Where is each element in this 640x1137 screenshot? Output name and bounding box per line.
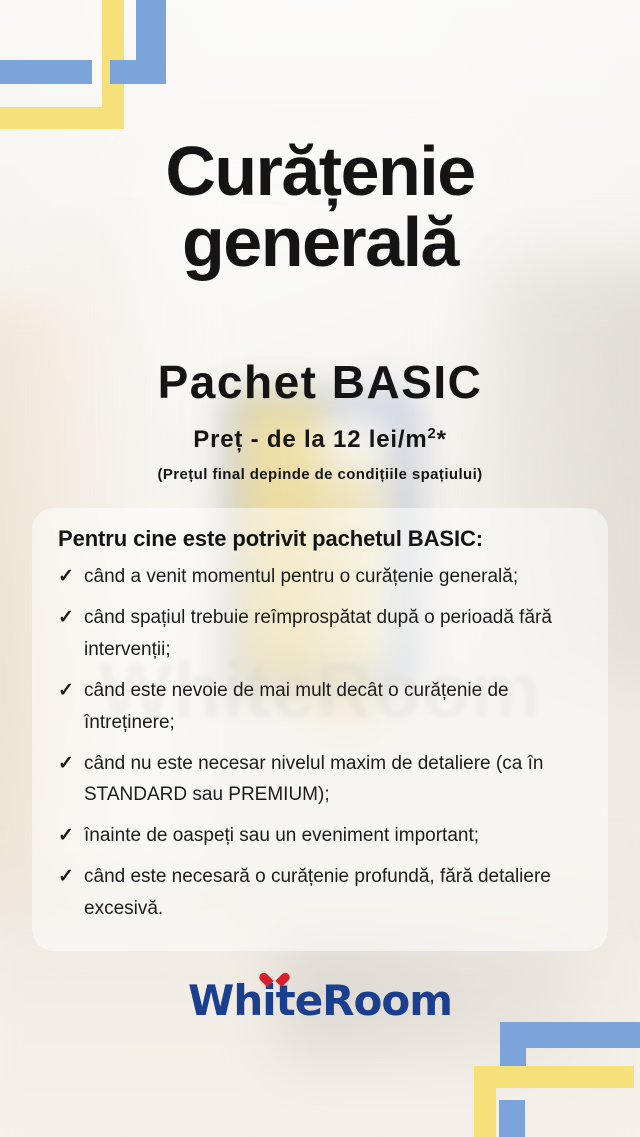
- package-name: Pachet BASIC: [0, 355, 640, 409]
- price-unit-exponent: 2: [428, 426, 437, 442]
- list-item: ✓ înainte de oaspeți sau un eveniment im…: [58, 820, 582, 852]
- check-icon: ✓: [58, 748, 74, 780]
- price-text: Preț - de la 12 lei/m: [193, 426, 427, 453]
- poster-canvas: WhiteRoom Curățenie generală Pachet BASI…: [0, 0, 640, 1137]
- corner-decoration-top-left-blue-bar: [0, 60, 92, 84]
- headline-line-2: generală: [0, 207, 640, 278]
- brand-logo-label: WhiteRoom: [188, 976, 452, 1025]
- list-item-label: când este nevoie de mai mult decât o cur…: [84, 680, 509, 733]
- page-title: Curățenie generală: [0, 136, 640, 279]
- check-icon: ✓: [58, 675, 74, 707]
- check-icon: ✓: [58, 861, 74, 893]
- list-item-label: înainte de oaspeți sau un eveniment impo…: [84, 825, 479, 846]
- heart-icon: [266, 970, 283, 985]
- list-item: ✓ când spațiul trebuie reîmprospătat dup…: [58, 602, 582, 666]
- corner-decoration-bottom-right-blue-tab: [499, 1100, 525, 1137]
- list-item-label: când nu este necesar nivelul maxim de de…: [84, 753, 543, 806]
- headline: Curățenie generală: [0, 136, 640, 279]
- list-item: ✓ când este necesară o curățenie profund…: [58, 861, 582, 925]
- price-line: Preț - de la 12 lei/m2*: [0, 426, 640, 454]
- corner-decoration-top-left-blue-hook-foot: [110, 60, 140, 84]
- brand-logo-text: WhiteRoom: [188, 976, 452, 1025]
- headline-line-1: Curățenie: [165, 132, 474, 210]
- benefits-card-title: Pentru cine este potrivit pachetul BASIC…: [58, 526, 582, 552]
- check-icon: ✓: [58, 602, 74, 634]
- list-item-label: când spațiul trebuie reîmprospătat după …: [84, 607, 552, 660]
- benefits-card: Pentru cine este potrivit pachetul BASIC…: [32, 508, 608, 951]
- check-icon: ✓: [58, 561, 74, 593]
- brand-logo: WhiteRoom: [0, 976, 640, 1032]
- price-asterisk: *: [437, 426, 447, 453]
- list-item-label: când este necesară o curățenie profundă,…: [84, 866, 551, 919]
- list-item: ✓ când este nevoie de mai mult decât o c…: [58, 675, 582, 739]
- list-item: ✓ când a venit momentul pentru o curățen…: [58, 561, 582, 593]
- check-icon: ✓: [58, 820, 74, 852]
- corner-decoration-top-left-blue-hook: [136, 0, 166, 84]
- price-disclaimer: (Prețul final depinde de condițiile spaț…: [0, 466, 640, 483]
- list-item: ✓ când nu este necesar nivelul maxim de …: [58, 748, 582, 812]
- list-item-label: când a venit momentul pentru o curățenie…: [84, 566, 518, 587]
- benefits-list: ✓ când a venit momentul pentru o curățen…: [58, 561, 582, 925]
